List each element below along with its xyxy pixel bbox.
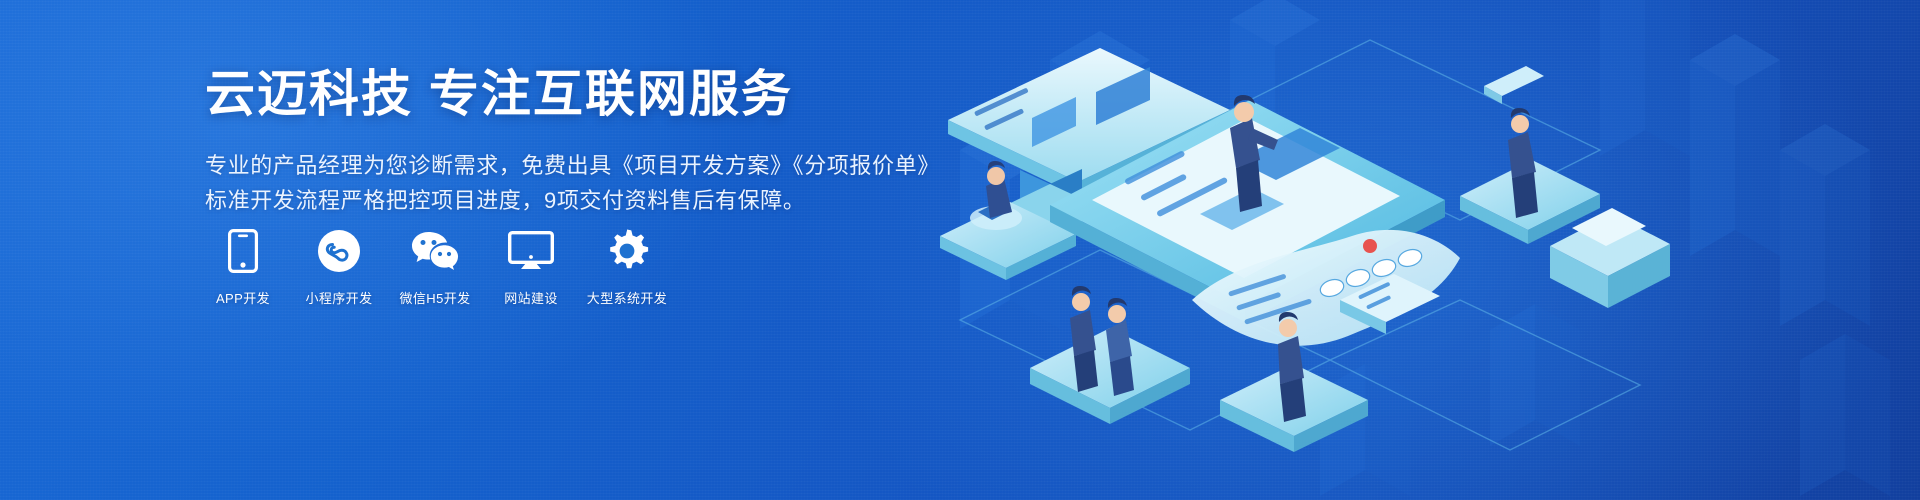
wechat-icon: [410, 228, 460, 274]
illustration-platform-bottom-left: [1030, 286, 1190, 424]
service-label-mini-program: 小程序开发: [305, 288, 372, 307]
service-label-website: 网站建设: [504, 288, 558, 307]
service-list: APP开发 小程序开发 微信: [205, 228, 665, 307]
mini-program-icon: [317, 228, 361, 274]
service-item-wechat-h5[interactable]: 微信H5开发: [397, 228, 473, 307]
mobile-phone-icon: [228, 228, 258, 274]
promo-banner: 云迈科技 专注互联网服务 专业的产品经理为您诊断需求，免费出具《项目开发方案》《…: [0, 0, 1920, 500]
banner-subtitle: 专业的产品经理为您诊断需求，免费出具《项目开发方案》《分项报价单》 标准开发流程…: [205, 148, 940, 219]
page-title: 云迈科技 专注互联网服务: [205, 66, 940, 124]
service-label-app: APP开发: [216, 288, 270, 307]
subtitle-line-2: 标准开发流程严格把控项目进度，9项交付资料售后有保障。: [205, 183, 940, 219]
subtitle-line-1: 专业的产品经理为您诊断需求，免费出具《项目开发方案》《分项报价单》: [205, 148, 940, 184]
monitor-icon: [508, 228, 554, 274]
service-label-large-system: 大型系统开发: [587, 288, 667, 307]
gear-icon: [605, 228, 649, 274]
service-item-website[interactable]: 网站建设: [493, 228, 569, 307]
banner-copy: 云迈科技 专注互联网服务 专业的产品经理为您诊断需求，免费出具《项目开发方案》《…: [205, 66, 940, 219]
service-item-app[interactable]: APP开发: [205, 228, 281, 307]
service-item-mini-program[interactable]: 小程序开发: [301, 228, 377, 307]
isometric-illustration: [900, 0, 1920, 500]
service-item-large-system[interactable]: 大型系统开发: [589, 228, 665, 307]
service-label-wechat-h5: 微信H5开发: [399, 288, 470, 307]
